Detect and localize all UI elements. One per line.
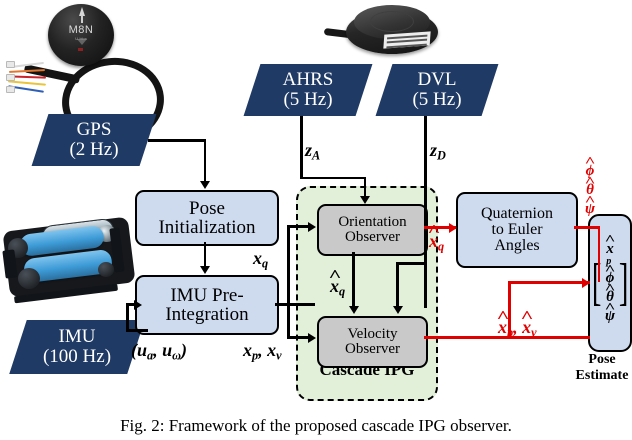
edge-gps-h xyxy=(148,139,206,142)
edge-orient-vel-arrow xyxy=(349,306,359,314)
label-z-d: zD xyxy=(430,140,446,163)
label-z-a: zA xyxy=(305,140,320,163)
gps-wire-tip xyxy=(6,74,15,81)
block-velocity-observer[interactable]: Velocity Observer xyxy=(317,316,428,368)
edge-orient-vel-v xyxy=(352,252,355,308)
gps-antenna-photo: M8N U-blox xyxy=(6,2,156,132)
bracket-right: ] xyxy=(619,257,629,309)
figure-caption: Fig. 2: Framework of the proposed cascad… xyxy=(0,416,632,436)
edge-imupre-bus-h xyxy=(275,303,315,306)
rov-thruster xyxy=(98,262,114,277)
imu-pre-line1: IMU Pre- xyxy=(170,286,243,305)
label-x-pv: xp, xv xyxy=(243,340,282,363)
block-pose-initialization[interactable]: Pose Initialization xyxy=(135,190,279,246)
edge-xq-arrow xyxy=(308,222,316,232)
block-quaternion-to-euler[interactable]: Quaternion to Euler Angles xyxy=(456,192,578,268)
edge-dvl-v2 xyxy=(396,262,399,308)
sensor-tag-dvl[interactable] xyxy=(376,64,499,116)
edge-pose-in-h xyxy=(508,281,590,284)
imu-pre-line2: Integration xyxy=(165,305,248,324)
edge-xpv-arrow xyxy=(308,333,316,343)
edge-gps-arrow xyxy=(200,181,210,189)
quat-line2: to Euler xyxy=(491,222,542,238)
sensor-tag-gps[interactable] xyxy=(32,114,157,166)
edge-pose-in-arrow xyxy=(582,278,590,288)
edge-xhatq-red-arrow xyxy=(449,223,457,233)
rov-thruster xyxy=(18,268,40,289)
edge-dvl-h xyxy=(398,262,426,265)
dvl-sensor-photo xyxy=(324,0,456,62)
edge-imu-h-low xyxy=(126,329,148,332)
underwater-rov-photo xyxy=(2,208,138,312)
edge-quat-out-h xyxy=(574,226,600,229)
quat-line1: Quaternion xyxy=(481,206,553,222)
pose-vec-psi: ψ xyxy=(605,309,615,324)
gps-model-text: M8N xyxy=(69,24,94,36)
dvl-transducer-ring xyxy=(370,11,414,32)
gps-model-label: M8N U-blox xyxy=(48,24,114,41)
gps-wire xyxy=(8,80,46,85)
edge-xpv-v xyxy=(287,303,290,338)
edge-imu-v xyxy=(126,303,129,331)
block-imu-pre-integration[interactable]: IMU Pre- Integration xyxy=(135,275,279,335)
orientation-line1: Orientation xyxy=(338,215,406,230)
label-euler-psi: ψ xyxy=(585,200,595,219)
edge-imu-arrow xyxy=(134,300,142,310)
edge-ahrs-v1 xyxy=(300,116,303,179)
gps-wire-tip xyxy=(6,86,15,93)
label-xhat-q-black: xq xyxy=(330,276,345,299)
gps-led-icon xyxy=(78,48,83,51)
edge-ahrs-h xyxy=(300,177,366,180)
edge-bus-v xyxy=(287,225,290,305)
pose-init-line1: Pose xyxy=(189,199,225,218)
gps-north-arrow-stem xyxy=(81,15,83,23)
pose-estimate-caption-line1: Pose xyxy=(572,352,632,368)
pose-estimate-box[interactable]: [ xp ϕ θ ψ ] xyxy=(588,214,632,352)
label-xhat-q-red: xq xyxy=(429,231,444,254)
figure-canvas: M8N U-blox GPS (2 Hz) AHRS (5 Hz) xyxy=(0,0,632,440)
label-xhat-pv-red: xp, xv xyxy=(498,317,537,340)
gps-wire-tip xyxy=(6,61,15,68)
label-u-inputs: (ua, uω) xyxy=(131,340,187,363)
quat-line3: Angles xyxy=(494,238,539,254)
pose-estimate-caption: Pose Estimate xyxy=(572,352,632,384)
edge-dvl-v xyxy=(424,116,427,308)
edge-dvl-arrow xyxy=(393,306,403,314)
edge-poseinit-imupre-arrow xyxy=(200,266,210,274)
gps-cable-lead xyxy=(24,64,80,83)
orientation-line2: Observer xyxy=(345,230,400,245)
edge-quat-out-v xyxy=(598,226,601,282)
edge-ahrs-arrow xyxy=(360,196,370,204)
pose-estimate-vector: [ xp ϕ θ ψ ] xyxy=(588,242,632,324)
velocity-line1: Velocity xyxy=(348,327,398,342)
edge-poseinit-imupre xyxy=(204,242,207,268)
label-x-q: xq xyxy=(253,248,268,271)
pose-init-line2: Initialization xyxy=(158,218,255,237)
edge-gps-v xyxy=(204,139,207,183)
pose-estimate-caption-line2: Estimate xyxy=(572,368,632,384)
block-orientation-observer[interactable]: Orientation Observer xyxy=(317,204,428,256)
sensor-tag-ahrs[interactable] xyxy=(244,64,373,116)
label-euler-red: ϕ θ ψ xyxy=(585,162,595,220)
velocity-line2: Observer xyxy=(345,342,400,357)
sensor-tag-imu[interactable] xyxy=(9,320,145,374)
